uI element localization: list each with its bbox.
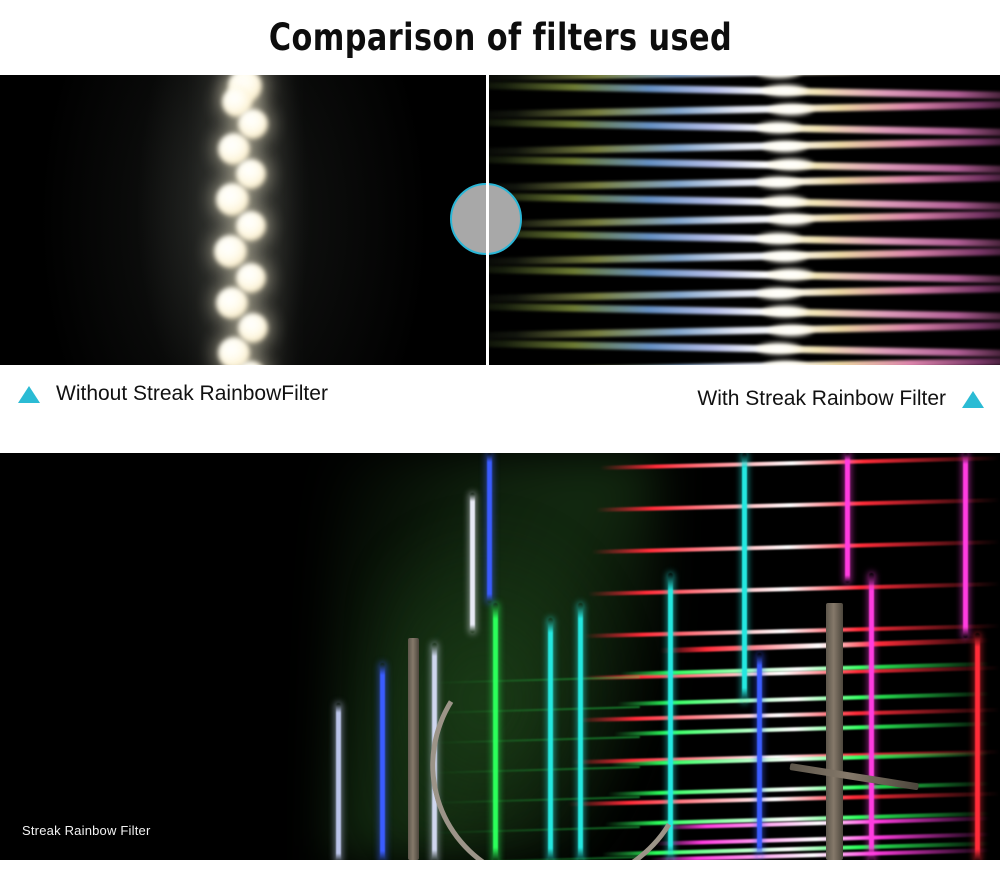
bokeh-light-dot — [214, 235, 247, 268]
led-streak-row-red-long — [660, 638, 990, 653]
caption-without-filter-label: Without Streak RainbowFilter — [56, 382, 328, 406]
comparison-pane-with-filter — [488, 75, 1000, 365]
comparison-divider-line — [486, 75, 489, 365]
bokeh-light-dot — [236, 211, 266, 241]
hero-caption: Streak Rainbow Filter — [22, 823, 150, 838]
led-strip-vertical — [380, 663, 385, 860]
led-strip-vertical — [487, 453, 492, 603]
led-strip-vertical — [845, 453, 850, 583]
triangle-up-icon — [18, 386, 40, 403]
led-strip-vertical — [336, 703, 341, 860]
triangle-up-icon — [962, 391, 984, 408]
led-strip-vertical — [470, 493, 475, 633]
bokeh-light-dot — [216, 183, 249, 216]
title-bar: Comparison of filters used — [0, 0, 1000, 75]
page-title: Comparison of filters used — [268, 16, 731, 59]
left-post — [408, 638, 419, 860]
wooden-pole — [826, 603, 843, 860]
led-streak-row-red — [600, 456, 1000, 470]
comparison-caption-row: Without Streak RainbowFilter With Streak… — [0, 365, 1000, 453]
comparison-pane-without-filter — [0, 75, 487, 365]
streak-bright-core — [768, 158, 814, 171]
streak-bright-core — [768, 324, 814, 337]
streak-bright-core — [756, 342, 802, 355]
streak-bright-core — [756, 287, 802, 300]
led-strip-vertical — [757, 653, 762, 858]
led-strip-vertical — [869, 573, 874, 860]
led-strip-vertical — [742, 453, 747, 703]
caption-with-filter: With Streak Rainbow Filter — [697, 387, 984, 411]
caption-without-filter: Without Streak RainbowFilter — [18, 382, 328, 406]
led-strip-vertical — [975, 633, 980, 860]
streak-bright-core — [762, 250, 808, 263]
streak-bright-core — [768, 103, 814, 116]
hero-photo: Streak Rainbow Filter — [0, 453, 1000, 860]
caption-with-filter-label: With Streak Rainbow Filter — [697, 387, 946, 411]
product-comparison-page: Comparison of filters used Without Strea… — [0, 0, 1000, 888]
streak-bright-core — [756, 232, 802, 245]
streak-bright-core — [762, 140, 808, 153]
led-strip-vertical — [963, 453, 968, 638]
streak-bright-core — [762, 195, 808, 208]
bokeh-light-dot — [216, 287, 248, 319]
